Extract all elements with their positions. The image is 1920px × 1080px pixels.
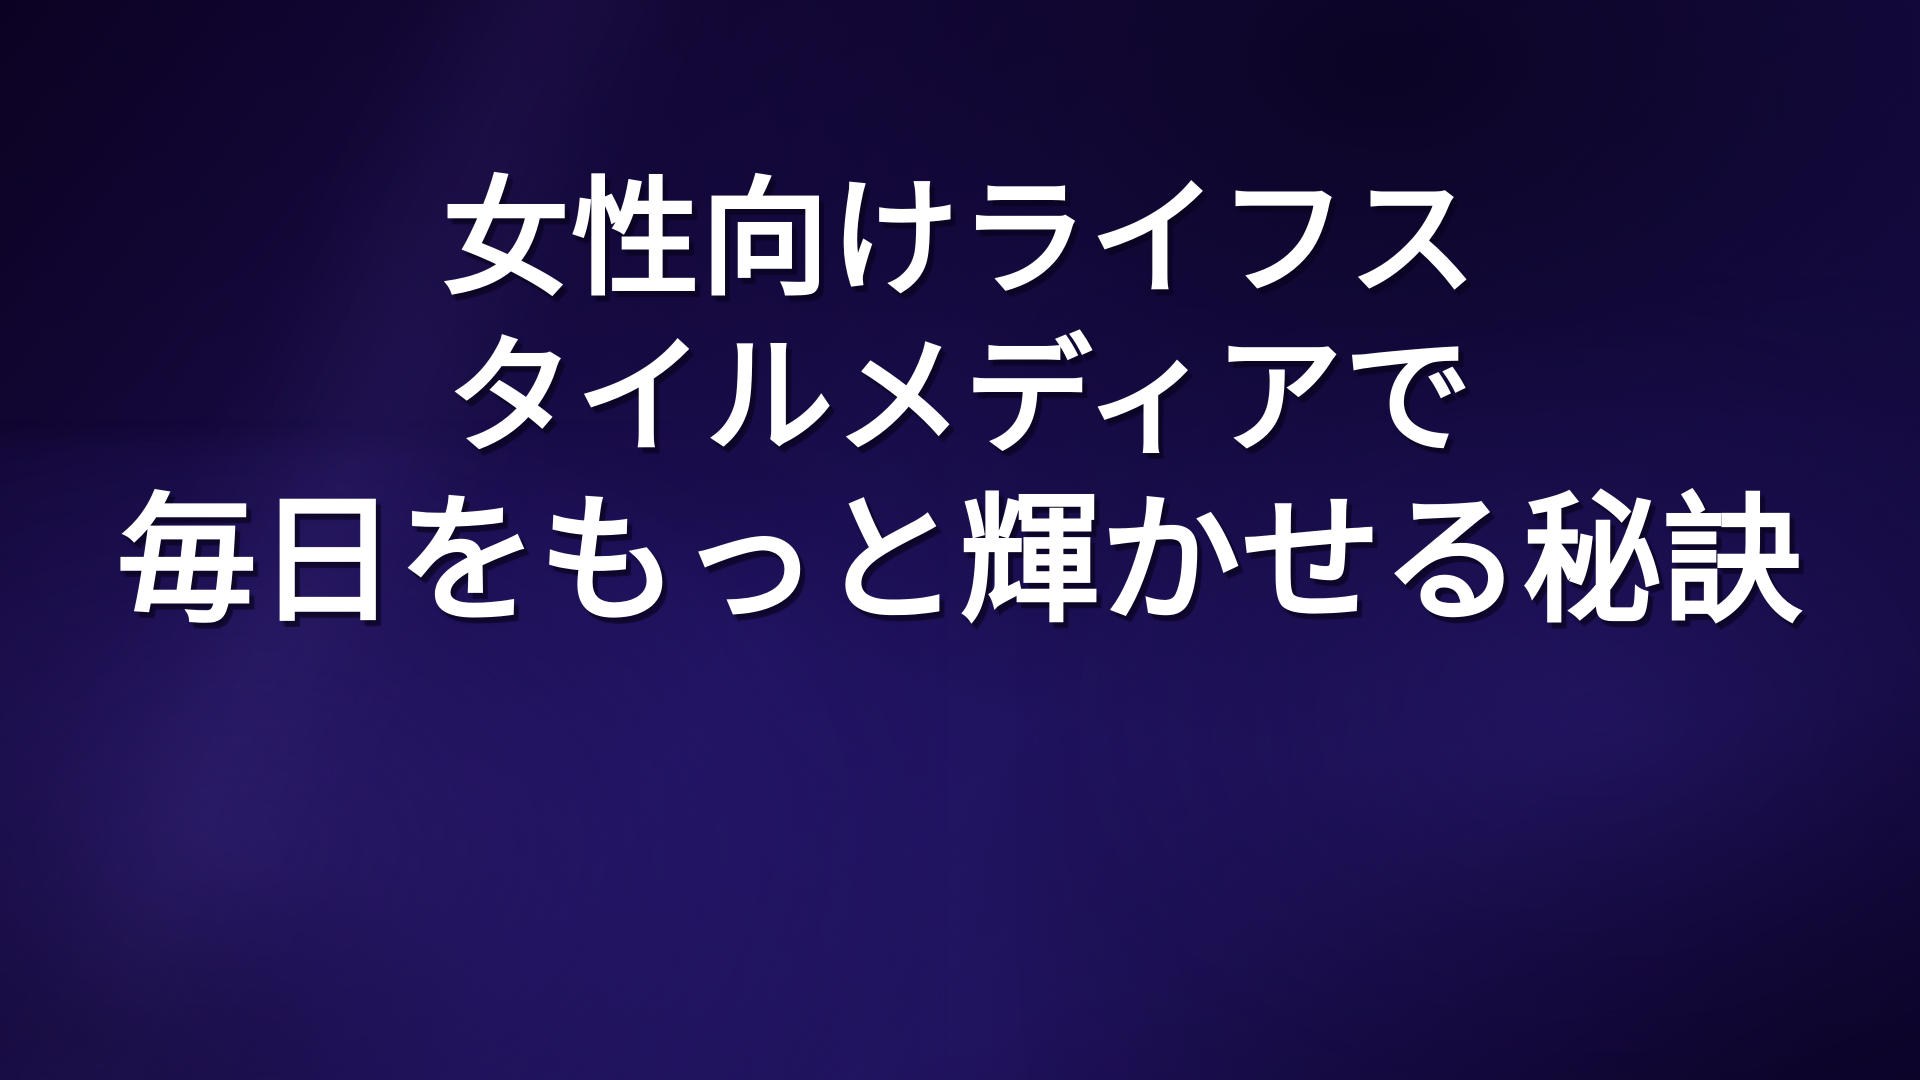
title-line-2: タイルメディアで <box>446 334 1473 462</box>
title-line-3: 毎日をもっと輝かせる秘訣 <box>117 492 1804 632</box>
title-line-1: 女性向けライフス <box>442 176 1478 304</box>
title-block: 女性向けライフス タイルメディアで 毎日をもっと輝かせる秘訣 <box>0 176 1920 632</box>
slide-canvas: 女性向けライフス タイルメディアで 毎日をもっと輝かせる秘訣 <box>0 0 1920 1080</box>
